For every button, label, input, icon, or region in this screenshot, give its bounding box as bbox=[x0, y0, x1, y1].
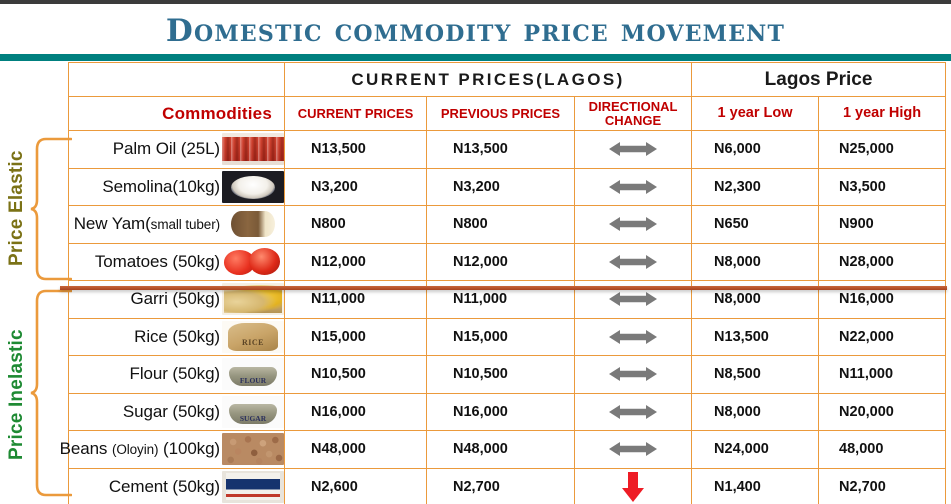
one-year-high-cell: N11,000 bbox=[819, 356, 946, 394]
sugar-basin-image bbox=[222, 396, 284, 428]
previous-price-value: N800 bbox=[427, 216, 574, 232]
window-top-bar bbox=[0, 0, 951, 4]
previous-price-cell: N800 bbox=[427, 206, 575, 244]
one-year-high-cell: N28,000 bbox=[819, 243, 946, 281]
previous-price-cell: N12,000 bbox=[427, 243, 575, 281]
table-row: Rice (50kg) N15,000 N15,000 N13,500 N22,… bbox=[69, 318, 946, 356]
arrow-left-right-icon bbox=[607, 440, 659, 457]
previous-price-value: N48,000 bbox=[427, 441, 574, 457]
commodity-name: Sugar (50kg) bbox=[123, 402, 220, 422]
one-year-high-value: N11,000 bbox=[819, 366, 945, 382]
commodity-name: Flour (50kg) bbox=[130, 364, 220, 384]
tomatoes-image bbox=[222, 246, 284, 278]
commodity-cell: Rice (50kg) bbox=[69, 318, 285, 356]
previous-price-value: N10,500 bbox=[427, 366, 574, 382]
arrow-left-right-icon bbox=[607, 253, 659, 270]
one-year-low-value: N6,000 bbox=[692, 141, 818, 157]
directional-change-cell bbox=[575, 131, 692, 169]
arrow-left-right-icon bbox=[607, 215, 659, 232]
group-header-current-prices: CURRENT PRICES(LAGOS) bbox=[285, 63, 692, 97]
current-price-cell: N2,600 bbox=[285, 468, 427, 504]
group-label-price-inelastic: Price Inelastic bbox=[6, 292, 28, 497]
one-year-low-cell: N8,500 bbox=[692, 356, 819, 394]
directional-change-line-2: CHANGE bbox=[575, 114, 691, 128]
table-row: New Yam(small tuber) N800 N800 N650 N900 bbox=[69, 206, 946, 244]
one-year-high-value: N20,000 bbox=[819, 404, 945, 420]
commodity-name-detail: (Oloyin) bbox=[112, 442, 158, 457]
previous-price-cell: N2,700 bbox=[427, 468, 575, 504]
current-price-value: N10,500 bbox=[285, 366, 426, 382]
arrow-left-right-icon bbox=[607, 178, 659, 195]
arrow-left-right-icon bbox=[607, 365, 659, 382]
table-row: Semolina(10kg) N3,200 N3,200 N2,300 N3,5… bbox=[69, 168, 946, 206]
column-header-one-year-high: 1 year High bbox=[819, 97, 946, 131]
group-header-lagos-price: Lagos Price bbox=[692, 63, 946, 97]
one-year-high-value: N25,000 bbox=[819, 141, 945, 157]
column-header-previous-prices: PREVIOUS PRICES bbox=[427, 97, 575, 131]
previous-price-value: N3,200 bbox=[427, 179, 574, 195]
one-year-low-value: N8,000 bbox=[692, 404, 818, 420]
one-year-low-cell: N1,400 bbox=[692, 468, 819, 504]
directional-change-line-1: DIRECTIONAL bbox=[575, 100, 691, 114]
page-title: Domestic commodity price movement bbox=[0, 13, 951, 49]
one-year-high-value: N2,700 bbox=[819, 479, 945, 495]
commodity-cell: Beans (Oloyin) (100kg) bbox=[69, 431, 285, 469]
one-year-high-cell: 48,000 bbox=[819, 431, 946, 469]
title-underline-rule bbox=[0, 54, 951, 61]
one-year-low-value: N8,500 bbox=[692, 366, 818, 382]
one-year-high-cell: N2,700 bbox=[819, 468, 946, 504]
previous-price-value: N2,700 bbox=[427, 479, 574, 495]
directional-change-cell bbox=[575, 243, 692, 281]
commodity-name: Tomatoes (50kg) bbox=[95, 252, 220, 272]
directional-change-cell bbox=[575, 393, 692, 431]
previous-price-cell: N15,000 bbox=[427, 318, 575, 356]
one-year-high-value: N16,000 bbox=[819, 291, 945, 307]
commodity-name: Palm Oil (25L) bbox=[113, 139, 220, 159]
current-price-cell: N13,500 bbox=[285, 131, 427, 169]
previous-price-value: N15,000 bbox=[427, 329, 574, 345]
semolina-bowl-image bbox=[222, 171, 284, 203]
one-year-high-cell: N900 bbox=[819, 206, 946, 244]
one-year-high-cell: N3,500 bbox=[819, 168, 946, 206]
table-row: Beans (Oloyin) (100kg) N48,000 N48,000 N… bbox=[69, 431, 946, 469]
one-year-low-cell: N8,000 bbox=[692, 243, 819, 281]
directional-change-cell bbox=[575, 468, 692, 504]
one-year-low-cell: N8,000 bbox=[692, 393, 819, 431]
directional-change-cell bbox=[575, 206, 692, 244]
previous-price-cell: N3,200 bbox=[427, 168, 575, 206]
group-label-price-elastic: Price Elastic bbox=[6, 138, 28, 278]
commodity-cell: Tomatoes (50kg) bbox=[69, 243, 285, 281]
current-price-cell: N800 bbox=[285, 206, 427, 244]
current-price-value: N13,500 bbox=[285, 141, 426, 157]
table-row: Sugar (50kg) N16,000 N16,000 N8,000 N20,… bbox=[69, 393, 946, 431]
commodity-name: Garri (50kg) bbox=[131, 289, 221, 309]
commodity-name: New Yam(small tuber) bbox=[74, 214, 220, 234]
current-price-value: N11,000 bbox=[285, 291, 426, 307]
current-price-cell: N12,000 bbox=[285, 243, 427, 281]
one-year-low-value: N8,000 bbox=[692, 254, 818, 270]
one-year-low-value: N13,500 bbox=[692, 329, 818, 345]
one-year-low-value: N2,300 bbox=[692, 179, 818, 195]
commodity-name: Beans (Oloyin) (100kg) bbox=[60, 439, 220, 459]
column-header-commodities: Commodities bbox=[69, 97, 285, 131]
one-year-high-cell: N20,000 bbox=[819, 393, 946, 431]
previous-price-cell: N48,000 bbox=[427, 431, 575, 469]
commodity-cell: New Yam(small tuber) bbox=[69, 206, 285, 244]
table-row: Cement (50kg) N2,600 N2,700 N1,400 N2,70… bbox=[69, 468, 946, 504]
column-header-current-prices: CURRENT PRICES bbox=[285, 97, 427, 131]
commodity-name-detail: small tuber) bbox=[151, 217, 220, 232]
table-row: Palm Oil (25L) N13,500 N13,500 N6,000 N2… bbox=[69, 131, 946, 169]
arrow-left-right-icon bbox=[607, 290, 659, 307]
current-price-value: N3,200 bbox=[285, 179, 426, 195]
cement-bag-image bbox=[222, 471, 284, 503]
one-year-low-value: N1,400 bbox=[692, 479, 818, 495]
elasticity-section-divider bbox=[60, 286, 947, 290]
brace-price-elastic bbox=[30, 136, 72, 282]
one-year-high-value: N3,500 bbox=[819, 179, 945, 195]
directional-change-cell bbox=[575, 356, 692, 394]
brace-price-inelastic bbox=[30, 288, 72, 500]
commodity-name: Rice (50kg) bbox=[134, 327, 220, 347]
commodity-cell: Cement (50kg) bbox=[69, 468, 285, 504]
current-price-value: N48,000 bbox=[285, 441, 426, 457]
rice-sack-image bbox=[222, 321, 284, 353]
current-price-value: N800 bbox=[285, 216, 426, 232]
current-price-cell: N15,000 bbox=[285, 318, 427, 356]
commodity-cell: Palm Oil (25L) bbox=[69, 131, 285, 169]
current-price-cell: N10,500 bbox=[285, 356, 427, 394]
table-group-header-row: CURRENT PRICES(LAGOS) Lagos Price bbox=[69, 63, 946, 97]
directional-change-cell bbox=[575, 168, 692, 206]
current-price-cell: N16,000 bbox=[285, 393, 427, 431]
flour-basin-image bbox=[222, 358, 284, 390]
one-year-low-value: N24,000 bbox=[692, 441, 818, 457]
one-year-high-value: N900 bbox=[819, 216, 945, 232]
table-row: Tomatoes (50kg) N12,000 N12,000 N8,000 N… bbox=[69, 243, 946, 281]
previous-price-cell: N16,000 bbox=[427, 393, 575, 431]
header-spacer-cell bbox=[69, 63, 285, 97]
current-price-cell: N3,200 bbox=[285, 168, 427, 206]
column-header-directional-change: DIRECTIONAL CHANGE bbox=[575, 97, 692, 131]
price-table-wrapper: CURRENT PRICES(LAGOS) Lagos Price Commod… bbox=[68, 62, 945, 503]
one-year-high-value: N28,000 bbox=[819, 254, 945, 270]
commodity-cell: Flour (50kg) bbox=[69, 356, 285, 394]
arrow-down-icon bbox=[619, 478, 647, 495]
one-year-low-value: N8,000 bbox=[692, 291, 818, 307]
previous-price-value: N13,500 bbox=[427, 141, 574, 157]
commodity-cell: Semolina(10kg) bbox=[69, 168, 285, 206]
commodity-price-table: CURRENT PRICES(LAGOS) Lagos Price Commod… bbox=[68, 62, 946, 504]
table-body: Palm Oil (25L) N13,500 N13,500 N6,000 N2… bbox=[69, 131, 946, 504]
one-year-low-cell: N650 bbox=[692, 206, 819, 244]
one-year-low-cell: N6,000 bbox=[692, 131, 819, 169]
previous-price-cell: N10,500 bbox=[427, 356, 575, 394]
beans-image bbox=[222, 433, 284, 465]
yam-tuber-image bbox=[222, 208, 284, 240]
current-price-cell: N48,000 bbox=[285, 431, 427, 469]
current-price-value: N12,000 bbox=[285, 254, 426, 270]
arrow-left-right-icon bbox=[607, 140, 659, 157]
current-price-value: N2,600 bbox=[285, 479, 426, 495]
table-column-header-row: Commodities CURRENT PRICES PREVIOUS PRIC… bbox=[69, 97, 946, 131]
current-price-value: N16,000 bbox=[285, 404, 426, 420]
one-year-high-cell: N25,000 bbox=[819, 131, 946, 169]
one-year-low-value: N650 bbox=[692, 216, 818, 232]
one-year-low-cell: N13,500 bbox=[692, 318, 819, 356]
directional-change-cell bbox=[575, 431, 692, 469]
palm-oil-bottles-image bbox=[222, 133, 284, 165]
current-price-value: N15,000 bbox=[285, 329, 426, 345]
arrow-left-right-icon bbox=[607, 403, 659, 420]
previous-price-value: N12,000 bbox=[427, 254, 574, 270]
previous-price-cell: N13,500 bbox=[427, 131, 575, 169]
one-year-high-value: N22,000 bbox=[819, 329, 945, 345]
one-year-high-cell: N22,000 bbox=[819, 318, 946, 356]
column-header-one-year-low: 1 year Low bbox=[692, 97, 819, 131]
table-row: Flour (50kg) N10,500 N10,500 N8,500 N11,… bbox=[69, 356, 946, 394]
previous-price-value: N16,000 bbox=[427, 404, 574, 420]
directional-change-cell bbox=[575, 318, 692, 356]
commodity-cell: Sugar (50kg) bbox=[69, 393, 285, 431]
commodity-name: Semolina(10kg) bbox=[102, 177, 220, 197]
commodity-name: Cement (50kg) bbox=[109, 477, 220, 497]
one-year-low-cell: N24,000 bbox=[692, 431, 819, 469]
page-root: Domestic commodity price movement Price … bbox=[0, 0, 951, 504]
table-head: CURRENT PRICES(LAGOS) Lagos Price Commod… bbox=[69, 63, 946, 131]
arrow-left-right-icon bbox=[607, 328, 659, 345]
one-year-low-cell: N2,300 bbox=[692, 168, 819, 206]
previous-price-value: N11,000 bbox=[427, 291, 574, 307]
one-year-high-value: 48,000 bbox=[819, 441, 945, 457]
